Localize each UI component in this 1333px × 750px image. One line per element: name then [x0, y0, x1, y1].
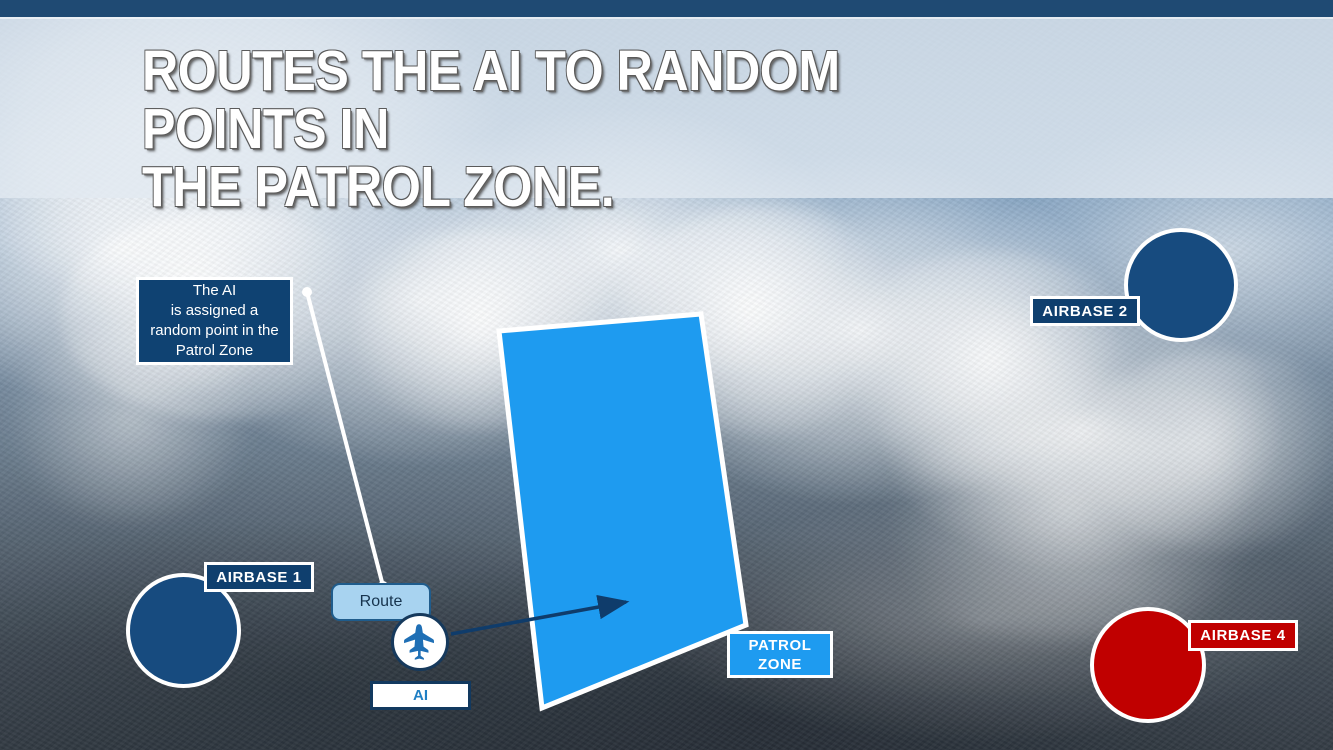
callout-text: The AI is assigned a random point in the…: [150, 281, 278, 361]
patrol-zone-label[interactable]: PATROL ZONE: [727, 631, 833, 678]
airbase-2-label[interactable]: AIRBASE 2: [1030, 296, 1140, 326]
ai-label-text: AI: [413, 687, 428, 704]
aircraft-marker[interactable]: [391, 613, 449, 671]
presentation-slide: ROUTES THE AI TO RANDOM POINTS IN THE PA…: [0, 0, 1333, 750]
patrol-zone-label-text: PATROL ZONE: [748, 636, 811, 674]
route-label-text: Route: [360, 593, 403, 611]
fighter-jet-icon: [399, 621, 441, 663]
slide-title: ROUTES THE AI TO RANDOM POINTS IN THE PA…: [142, 42, 1031, 216]
callout-box[interactable]: The AI is assigned a random point in the…: [136, 277, 293, 365]
airbase-1-label[interactable]: AIRBASE 1: [204, 562, 314, 592]
ai-label[interactable]: AI: [370, 681, 471, 710]
airbase-2-circle[interactable]: [1124, 228, 1238, 342]
airbase-1-label-text: AIRBASE 1: [216, 569, 301, 586]
title-banner-edge: [0, 17, 1333, 19]
airbase-4-label[interactable]: AIRBASE 4: [1188, 620, 1298, 651]
airbase-4-label-text: AIRBASE 4: [1200, 627, 1285, 644]
top-accent-strip: [0, 0, 1333, 17]
airbase-2-label-text: AIRBASE 2: [1042, 303, 1127, 320]
